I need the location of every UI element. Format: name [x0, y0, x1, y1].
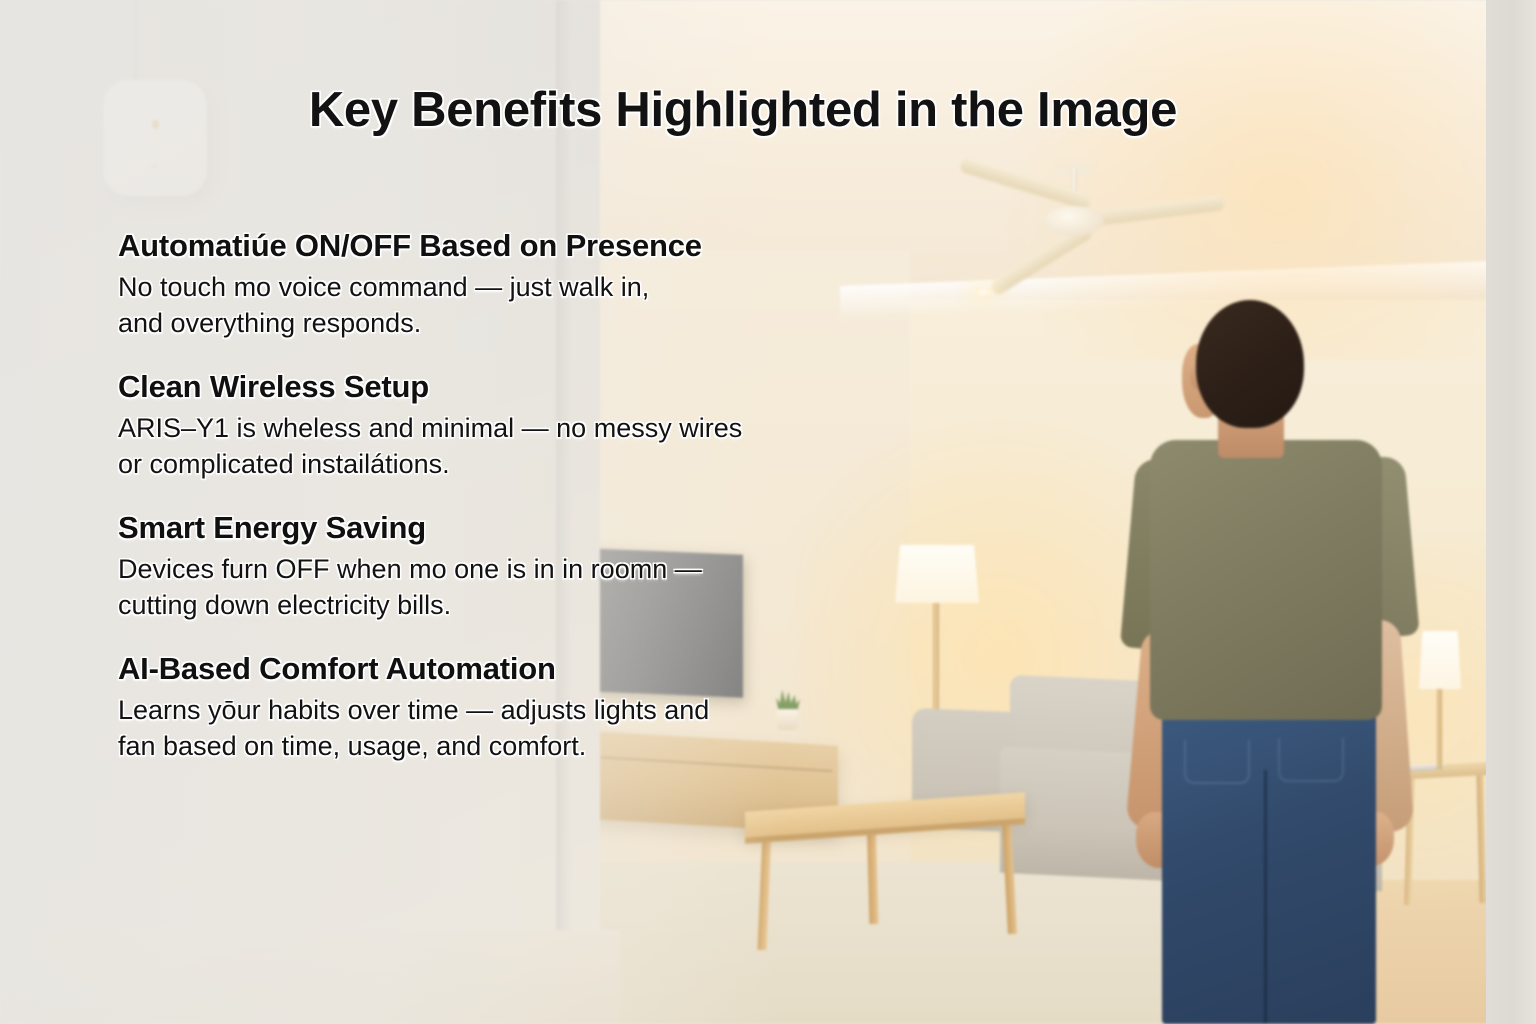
benefit-heading: Clean Wireless Setup [118, 369, 998, 406]
benefit-heading: AI-Based Comfort Automation [118, 651, 998, 688]
text-overlay: Key Benefits Highlighted in the Image Au… [0, 0, 1536, 1024]
benefit-description: No touch mo voice command — just walk in… [118, 269, 998, 342]
benefit-description-line: Learns yōur habits over time — adjusts l… [118, 692, 998, 729]
page-title: Key Benefits Highlighted in the Image [0, 82, 1486, 138]
benefit-item-smart-energy-saving: Smart Energy Saving Devices furn OFF whe… [118, 510, 998, 624]
benefit-item-automatic-onoff: Automatiúe ON/OFF Based on Presence No t… [118, 228, 998, 342]
benefit-description-line: and overything responds. [118, 305, 998, 342]
benefit-description-line: cutting down electricity bills. [118, 587, 998, 624]
benefit-description-line: Devices furn OFF when mo one is in in ro… [118, 551, 998, 588]
benefit-description-line: ARIS–Y1 is wheless and minimal — no mess… [118, 410, 998, 447]
benefit-heading: Automatiúe ON/OFF Based on Presence [118, 228, 998, 265]
benefit-description-line: fan based on time, usage, and comfort. [118, 728, 998, 765]
benefits-list: Automatiúe ON/OFF Based on Presence No t… [118, 228, 998, 792]
benefit-description: ARIS–Y1 is wheless and minimal — no mess… [118, 410, 998, 483]
promo-image-canvas: Key Benefits Highlighted in the Image Au… [0, 0, 1536, 1024]
benefit-item-clean-wireless-setup: Clean Wireless Setup ARIS–Y1 is wheless … [118, 369, 998, 483]
benefit-heading: Smart Energy Saving [118, 510, 998, 547]
benefit-description: Learns yōur habits over time — adjusts l… [118, 692, 998, 765]
benefit-description-line: or complicated instailátions. [118, 446, 998, 483]
benefit-item-ai-comfort-automation: AI-Based Comfort Automation Learns yōur … [118, 651, 998, 765]
benefit-description-line: No touch mo voice command — just walk in… [118, 269, 998, 306]
benefit-description: Devices furn OFF when mo one is in in ro… [118, 551, 998, 624]
